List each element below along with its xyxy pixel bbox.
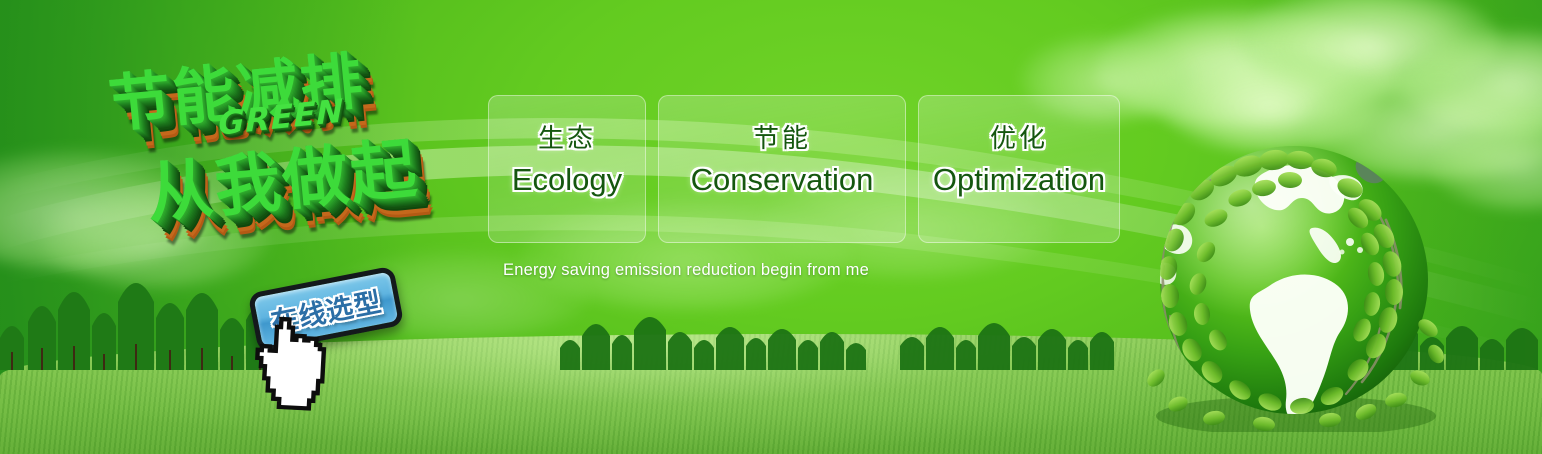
feature-card-cn-label: 生态 <box>538 126 596 152</box>
feature-card-conservation[interactable]: 节能 Conservation <box>658 95 906 243</box>
feature-card-cn-label: 优化 <box>990 126 1048 152</box>
feature-card-en-label: Conservation <box>691 164 874 195</box>
feature-card-en-label: Ecology <box>512 164 622 195</box>
feature-card-optimization[interactable]: 优化 Optimization <box>918 95 1120 243</box>
leafy-globe-icon <box>1144 132 1444 432</box>
feature-card-cn-label: 节能 <box>753 126 811 152</box>
eco-banner: 节能减排 从我做起 GREEN 在线选型 生态 Ecology 节能 Conse… <box>0 0 1542 454</box>
feature-card-en-label: Optimization <box>933 164 1105 195</box>
banner-tagline: Energy saving emission reduction begin f… <box>503 261 869 280</box>
feature-card-ecology[interactable]: 生态 Ecology <box>488 95 646 243</box>
